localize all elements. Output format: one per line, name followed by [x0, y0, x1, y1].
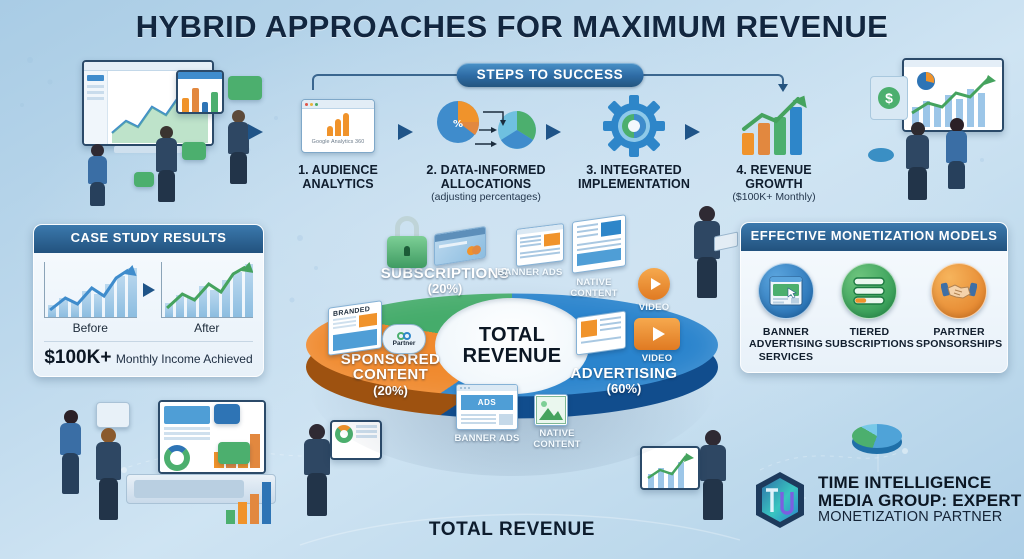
monetization-header: EFFECTIVE MONETIZATION MODELS: [741, 223, 1007, 251]
steps-badge-label: STEPS TO SUCCESS: [457, 63, 644, 87]
lock-icon: [386, 216, 428, 270]
illustration-3d-pie-token: [846, 418, 908, 462]
step-sub-2: (adjusting percentages): [422, 191, 550, 203]
case-study-footer: $100K+ Monthly Income Achieved: [44, 341, 253, 369]
video-play-circle-icon: [638, 268, 670, 300]
infographic-canvas: $: [0, 0, 1024, 559]
case-study-note: Monthly Income Achieved: [116, 352, 253, 366]
slice-label-sponsored-content: SPONSORED CONTENT (20%): [308, 352, 473, 398]
banner-ad-window-icon: [758, 263, 814, 319]
model-label-banner: BANNER ADVERTISING SERVICES: [749, 326, 823, 364]
case-study-amount: $100K+: [44, 347, 111, 368]
slice-label-advertising: ADVERTISING (60%): [534, 366, 714, 396]
case-study-panel: CASE STUDY RESULTS: [33, 224, 264, 377]
sub-label-native-content-top: NATIVE CONTENT: [558, 278, 630, 299]
stacked-tiers-icon: [841, 263, 897, 319]
video-play-rect-icon: [634, 318, 680, 350]
donut-center-label: TOTAL REVENUE: [463, 325, 562, 366]
step-item-1: Google Analytics 360 1. AUDIENCE ANALYTI…: [274, 94, 402, 191]
before-after-arrow-icon: [143, 283, 155, 297]
step-sub-4: ($100K+ Monthly): [710, 191, 838, 203]
sub-label-banner-ads-top: BANNER ADS: [494, 268, 566, 279]
monetization-items: BANNER ADVERTISING SERVICES TIERED SUBSC…: [741, 251, 1007, 373]
branded-article-icon: BRANDED: [328, 300, 382, 356]
handshake-icon: [931, 263, 987, 319]
sub-label-video-1: VIDEO: [626, 303, 682, 314]
model-item-partner-sponsorships[interactable]: PARTNER SPONSORSHIPS: [916, 263, 1002, 364]
pie-chart-split-icon: %: [422, 94, 550, 158]
brand-logo: TIME INTELLIGENCE MEDIA GROUP: EXPERT MO…: [752, 470, 1021, 530]
step-arrow-icon-0: [248, 124, 263, 140]
step-title-2: 2. DATA-INFORMED ALLOCATIONS: [422, 163, 550, 191]
step-item-2: % 2. DATA-INFORMED ALLOCATIONS (adjustin…: [422, 94, 550, 203]
sub-label-banner-ads-bottom: BANNER ADS: [448, 434, 526, 445]
logo-line-2: MEDIA GROUP: EXPERT: [818, 492, 1021, 510]
native-content-image-icon: [534, 394, 568, 426]
brand-logo-text: TIME INTELLIGENCE MEDIA GROUP: EXPERT MO…: [818, 474, 1021, 526]
banner-ads-window-bottom-icon: ADS: [456, 384, 518, 430]
chart-after: [161, 262, 254, 318]
ga-caption: Google Analytics 360: [302, 139, 374, 145]
step-title-1: 1. AUDIENCE ANALYTICS: [274, 163, 402, 191]
step-title-4: 4. REVENUE GROWTH: [710, 163, 838, 191]
partner-badge-icon: Partner: [382, 324, 426, 354]
sub-label-video-2: VIDEO: [629, 354, 685, 365]
sub-label-native-content-bottom: NATIVE CONTENT: [526, 429, 588, 450]
native-content-bubble-icon: [576, 310, 626, 355]
step-item-4: 4. REVENUE GROWTH ($100K+ Monthly): [710, 94, 838, 203]
model-label-tiered: TIERED SUBSCRIPTIONS: [825, 326, 914, 351]
chart-before: [44, 262, 137, 318]
gear-icon: [570, 94, 698, 158]
native-content-window-icon: [572, 214, 626, 274]
growth-bar-chart-icon: [710, 94, 838, 158]
before-after-charts: [44, 262, 253, 318]
steps-to-success-band: STEPS TO SUCCESS Goo: [270, 60, 830, 200]
step-title-3: 3. INTEGRATED IMPLEMENTATION: [570, 163, 698, 191]
rail-arrow-icon: [778, 84, 788, 92]
logo-line-1: TIME INTELLIGENCE: [818, 474, 1021, 492]
model-item-banner-advertising[interactable]: BANNER ADVERTISING SERVICES: [749, 263, 823, 364]
model-label-partner: PARTNER SPONSORSHIPS: [916, 326, 1002, 351]
before-after-labels: Before After: [44, 321, 253, 335]
label-after: After: [161, 321, 254, 335]
case-study-body: Before After $100K+ Monthly Income Achie…: [34, 253, 263, 376]
credit-card-icon: [434, 226, 486, 266]
step-item-3: 3. INTEGRATED IMPLEMENTATION: [570, 94, 698, 191]
monetization-models-panel: EFFECTIVE MONETIZATION MODELS BANNER ADV…: [740, 222, 1008, 373]
illustration-team-growth-right: $: [868, 56, 1018, 216]
ti-hexagon-logo-icon: [752, 470, 808, 530]
revenue-donut-chart: TOTAL REVENUE SUBSCRIPTIONS (20%) SPONSO…: [286, 206, 738, 496]
case-study-header: CASE STUDY RESULTS: [34, 225, 263, 253]
logo-line-3: MONETIZATION PARTNER: [818, 510, 1021, 526]
google-analytics-window-icon: Google Analytics 360: [274, 94, 402, 158]
svg-text:%: %: [453, 119, 463, 130]
banner-ads-window-top-icon: [516, 223, 564, 267]
label-before: Before: [44, 321, 137, 335]
model-item-tiered-subscriptions[interactable]: TIERED SUBSCRIPTIONS: [825, 263, 914, 364]
page-title: HYBRID APPROACHES FOR MAXIMUM REVENUE: [0, 9, 1024, 45]
